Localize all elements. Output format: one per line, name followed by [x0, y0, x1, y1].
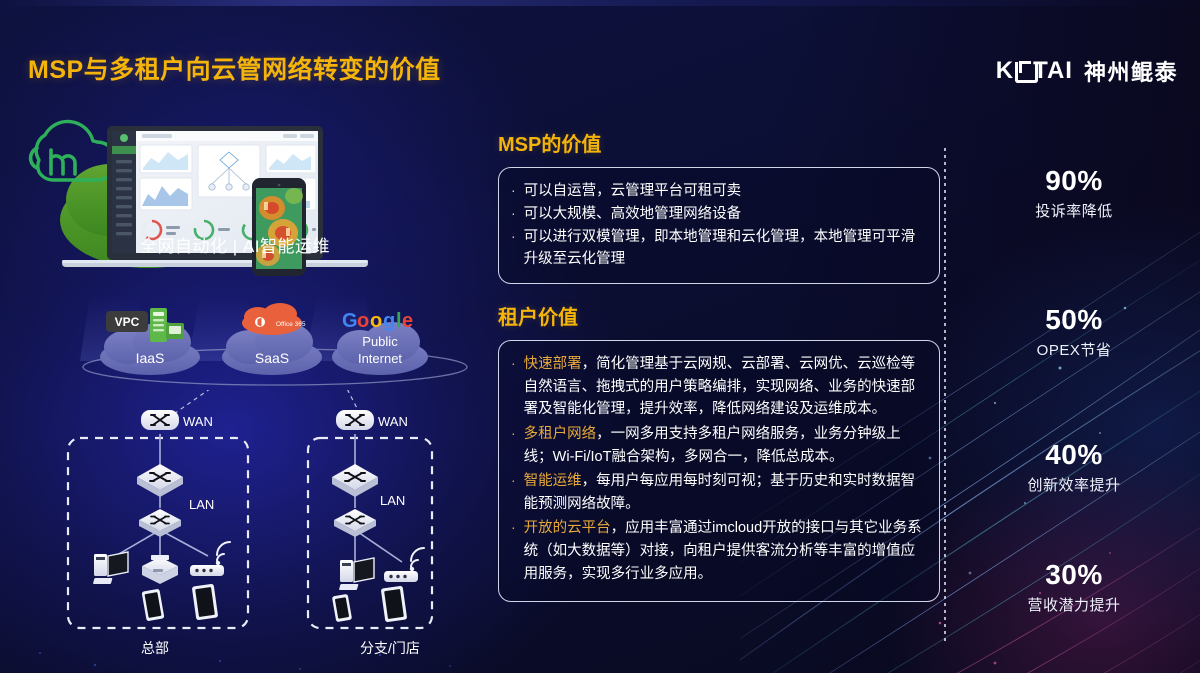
stat-value: 30% [948, 560, 1200, 591]
branch-wan-router-icon [336, 410, 374, 430]
bullet-marker: · [511, 226, 516, 270]
branch-tablet-icon-2 [381, 586, 408, 623]
hq-lan-label: LAN [189, 497, 214, 512]
section-msp-value: MSP的价值 · 可以自运营，云管理平台可租可卖 · 可以大规模、高效地管理网络… [498, 128, 940, 284]
svg-text:e: e [402, 310, 413, 332]
svg-text:o: o [357, 310, 369, 332]
vertical-dotted-divider [944, 148, 946, 642]
msp-value-box: · 可以自运营，云管理平台可租可卖 · 可以大规模、高效地管理网络设备 · 可以… [498, 167, 940, 284]
iaas-label: IaaS [136, 350, 165, 366]
hq-wan-label: WAN [183, 414, 213, 429]
list-item-highlight: 开放的云平台 [524, 520, 611, 536]
list-item: · 快速部署，简化管理基于云网规、云部署、云网优、云巡检等自然语言、拖拽式的用户… [511, 353, 924, 421]
list-item-highlight: 快速部署 [524, 356, 582, 372]
list-item-text: 智能运维，每用户每应用每时刻可视；基于历史和实时数据智能预测网络故障。 [524, 470, 924, 515]
network-topology-diagram: WAN LAN [50, 390, 480, 665]
stat-value: 90% [948, 166, 1200, 197]
branch-wan-label: WAN [378, 414, 408, 429]
svg-text:l: l [396, 310, 402, 332]
branch-tablet-icon-1 [332, 594, 352, 622]
list-item-highlight: 多租户网络 [524, 426, 597, 442]
google-logo-icon: G o o g l e [342, 310, 413, 332]
list-item-text: 可以大规模、高效地管理网络设备 [524, 203, 925, 225]
list-item-text: 可以进行双模管理，即本地管理和云化管理，本地管理可平滑升级至云化管理 [524, 226, 925, 270]
saas-label: SaaS [255, 350, 289, 366]
logo-letters-tai: TAI [1033, 57, 1073, 85]
bullet-marker: · [511, 180, 516, 202]
bullet-marker: · [511, 517, 516, 585]
branch-lan-label: LAN [380, 493, 405, 508]
svg-text:G: G [342, 310, 358, 332]
stat-value: 40% [948, 440, 1200, 471]
list-item: · 可以自运营，云管理平台可租可卖 [511, 180, 925, 202]
list-item-body: ，每用户每应用每时刻可视；基于历史和实时数据智能预测网络故障。 [524, 473, 916, 512]
hq-tablet-icon-1 [142, 589, 165, 622]
tenant-value-box: · 快速部署，简化管理基于云网规、云部署、云网优、云巡检等自然语言、拖拽式的用户… [498, 340, 940, 602]
server-icon [150, 308, 184, 342]
value-sections: MSP的价值 · 可以自运营，云管理平台可租可卖 · 可以大规模、高效地管理网络… [498, 128, 940, 602]
branch-core-switch-icon [332, 464, 378, 497]
list-item-body: ，简化管理基于云网规、云部署、云网优、云巡检等自然语言、拖拽式的用户策略编排，实… [524, 356, 916, 417]
hq-wan-router-icon [141, 410, 179, 430]
site-label-branch: 分支/门店 [320, 638, 460, 658]
site-label-headquarters: 总部 [95, 638, 215, 658]
illustration-caption: 全网自动化 | AI智能运维 [0, 232, 470, 257]
hq-lan-switch-icon [139, 509, 181, 537]
list-item: · 可以大规模、高效地管理网络设备 [511, 203, 925, 225]
list-item-text: 多租户网络，一网多用支持多租户网络服务，业务分钟级上线；Wi-Fi/IoT融合架… [524, 423, 924, 468]
stat-label: 营收潜力提升 [948, 594, 1200, 615]
kuntai-u-mark-icon [1015, 62, 1032, 80]
stat-item-revenue: 30% 营收潜力提升 [948, 560, 1200, 615]
cloud-platform-illustration [0, 100, 470, 290]
list-item-text: 快速部署，简化管理基于云网规、云部署、云网优、云巡检等自然语言、拖拽式的用户策略… [524, 353, 924, 421]
site-branch: WAN LAN [308, 410, 432, 628]
section-tenant-value: 租户价值 · 快速部署，简化管理基于云网规、云部署、云网优、云巡检等自然语言、拖… [498, 301, 940, 602]
hq-core-switch-icon [137, 464, 183, 497]
phone-heatmap-icon [252, 178, 306, 276]
logo-wordmark-cn: 神州鲲泰 [1084, 55, 1178, 87]
svg-text:Office 365: Office 365 [276, 321, 306, 328]
vpc-badge-icon: VPC [106, 311, 148, 332]
stat-value: 50% [948, 305, 1200, 336]
site-headquarters: WAN LAN [68, 410, 248, 628]
logo-letter-k: K [996, 57, 1014, 85]
section-title-tenant: 租户价值 [498, 301, 940, 330]
hq-wireless-ap-icon [190, 542, 230, 576]
logo-wordmark-en: K TAI [996, 57, 1073, 85]
list-item: · 开放的云平台，应用丰富通过imcloud开放的接口与其它业务系统（如大数据等… [511, 517, 924, 585]
stat-item-innovation: 40% 创新效率提升 [948, 440, 1200, 495]
public-internet-label-line1: Public [362, 334, 398, 349]
bullet-marker: · [511, 423, 516, 468]
page-title: MSP与多租户向云管网络转变的价值 [28, 50, 441, 86]
hq-server-icon [142, 555, 178, 584]
branch-lan-switch-icon [334, 509, 376, 537]
stat-label: 创新效率提升 [948, 474, 1200, 495]
public-internet-label-line2: Internet [358, 351, 402, 366]
bullet-marker: · [511, 470, 516, 515]
branch-pc-icon [339, 558, 374, 590]
bullet-marker: · [511, 203, 516, 225]
stat-item-opex: 50% OPEX节省 [948, 305, 1200, 360]
section-title-msp: MSP的价值 [498, 128, 940, 157]
list-item-text: 可以自运营，云管理平台可租可卖 [524, 180, 925, 202]
stats-panel: 90% 投诉率降低 50% OPEX节省 40% 创新效率提升 30% 营收潜力… [948, 150, 1200, 650]
svg-text:VPC: VPC [115, 315, 140, 329]
list-item: · 多租户网络，一网多用支持多租户网络服务，业务分钟级上线；Wi-Fi/IoT融… [511, 423, 924, 468]
cloud-services-row: IaaS VPC SaaS Office 365 Public Internet [80, 295, 470, 395]
brand-logo: K TAI 神州鲲泰 [996, 55, 1178, 87]
bullet-marker: · [511, 353, 516, 421]
background-top-glow [0, 0, 1200, 6]
stat-label: 投诉率降低 [948, 200, 1200, 221]
stat-label: OPEX节省 [948, 339, 1200, 360]
list-item: · 可以进行双模管理，即本地管理和云化管理，本地管理可平滑升级至云化管理 [511, 226, 925, 270]
svg-text:g: g [383, 310, 395, 332]
stat-item-complaint-rate: 90% 投诉率降低 [948, 166, 1200, 221]
list-item: · 智能运维，每用户每应用每时刻可视；基于历史和实时数据智能预测网络故障。 [511, 470, 924, 515]
hq-tablet-icon-2 [192, 584, 219, 621]
branch-boundary-box [308, 438, 432, 628]
svg-text:o: o [370, 310, 382, 332]
list-item-highlight: 智能运维 [524, 473, 582, 489]
hq-pc-icon [93, 552, 128, 584]
list-item-text: 开放的云平台，应用丰富通过imcloud开放的接口与其它业务系统（如大数据等）对… [524, 517, 924, 585]
